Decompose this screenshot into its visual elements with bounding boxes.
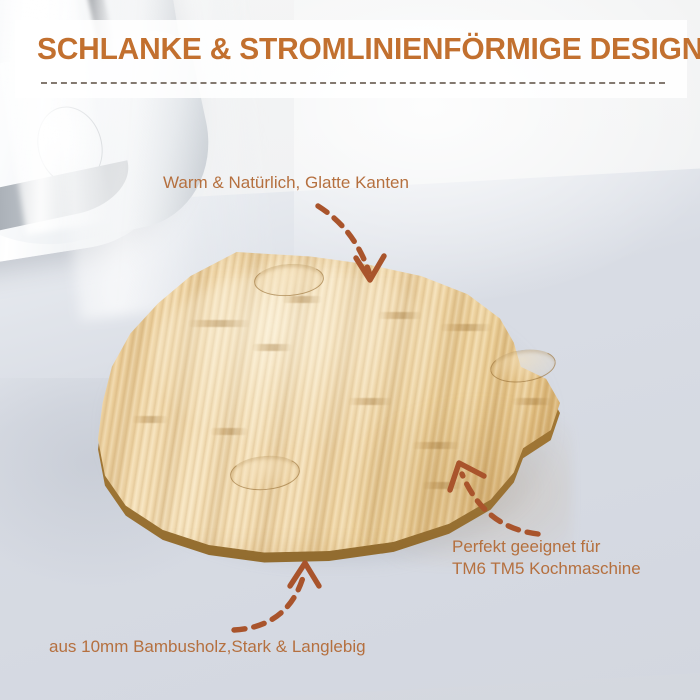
banner-dashed-rule [41, 82, 665, 84]
bamboo-node-mark [378, 312, 422, 319]
callout-bamboo-material: aus 10mm Bambusholz,Stark & Langlebig [49, 636, 366, 658]
bamboo-board [92, 246, 566, 576]
callout-warm-natural: Warm & Natürlich, Glatte Kanten [163, 172, 409, 194]
bamboo-node-mark [422, 482, 462, 489]
bamboo-node-mark [252, 344, 292, 351]
product-feature-image: SCHLANKE & STROMLINIENFÖRMIGE DESIGN War… [0, 0, 700, 700]
bamboo-node-mark [210, 428, 248, 435]
bamboo-node-mark [512, 398, 552, 405]
banner-title: SCHLANKE & STROMLINIENFÖRMIGE DESIGN [37, 30, 643, 68]
callout-thermomix-fit: Perfekt geeignet für TM6 TM5 Kochmaschin… [452, 536, 641, 580]
bamboo-node-mark [188, 320, 250, 327]
bamboo-node-mark [348, 398, 392, 405]
bamboo-node-mark [282, 296, 322, 303]
bamboo-node-mark [412, 442, 460, 449]
bamboo-node-mark [440, 324, 492, 331]
bamboo-node-mark [132, 416, 168, 423]
header-banner: SCHLANKE & STROMLINIENFÖRMIGE DESIGN [15, 20, 687, 98]
